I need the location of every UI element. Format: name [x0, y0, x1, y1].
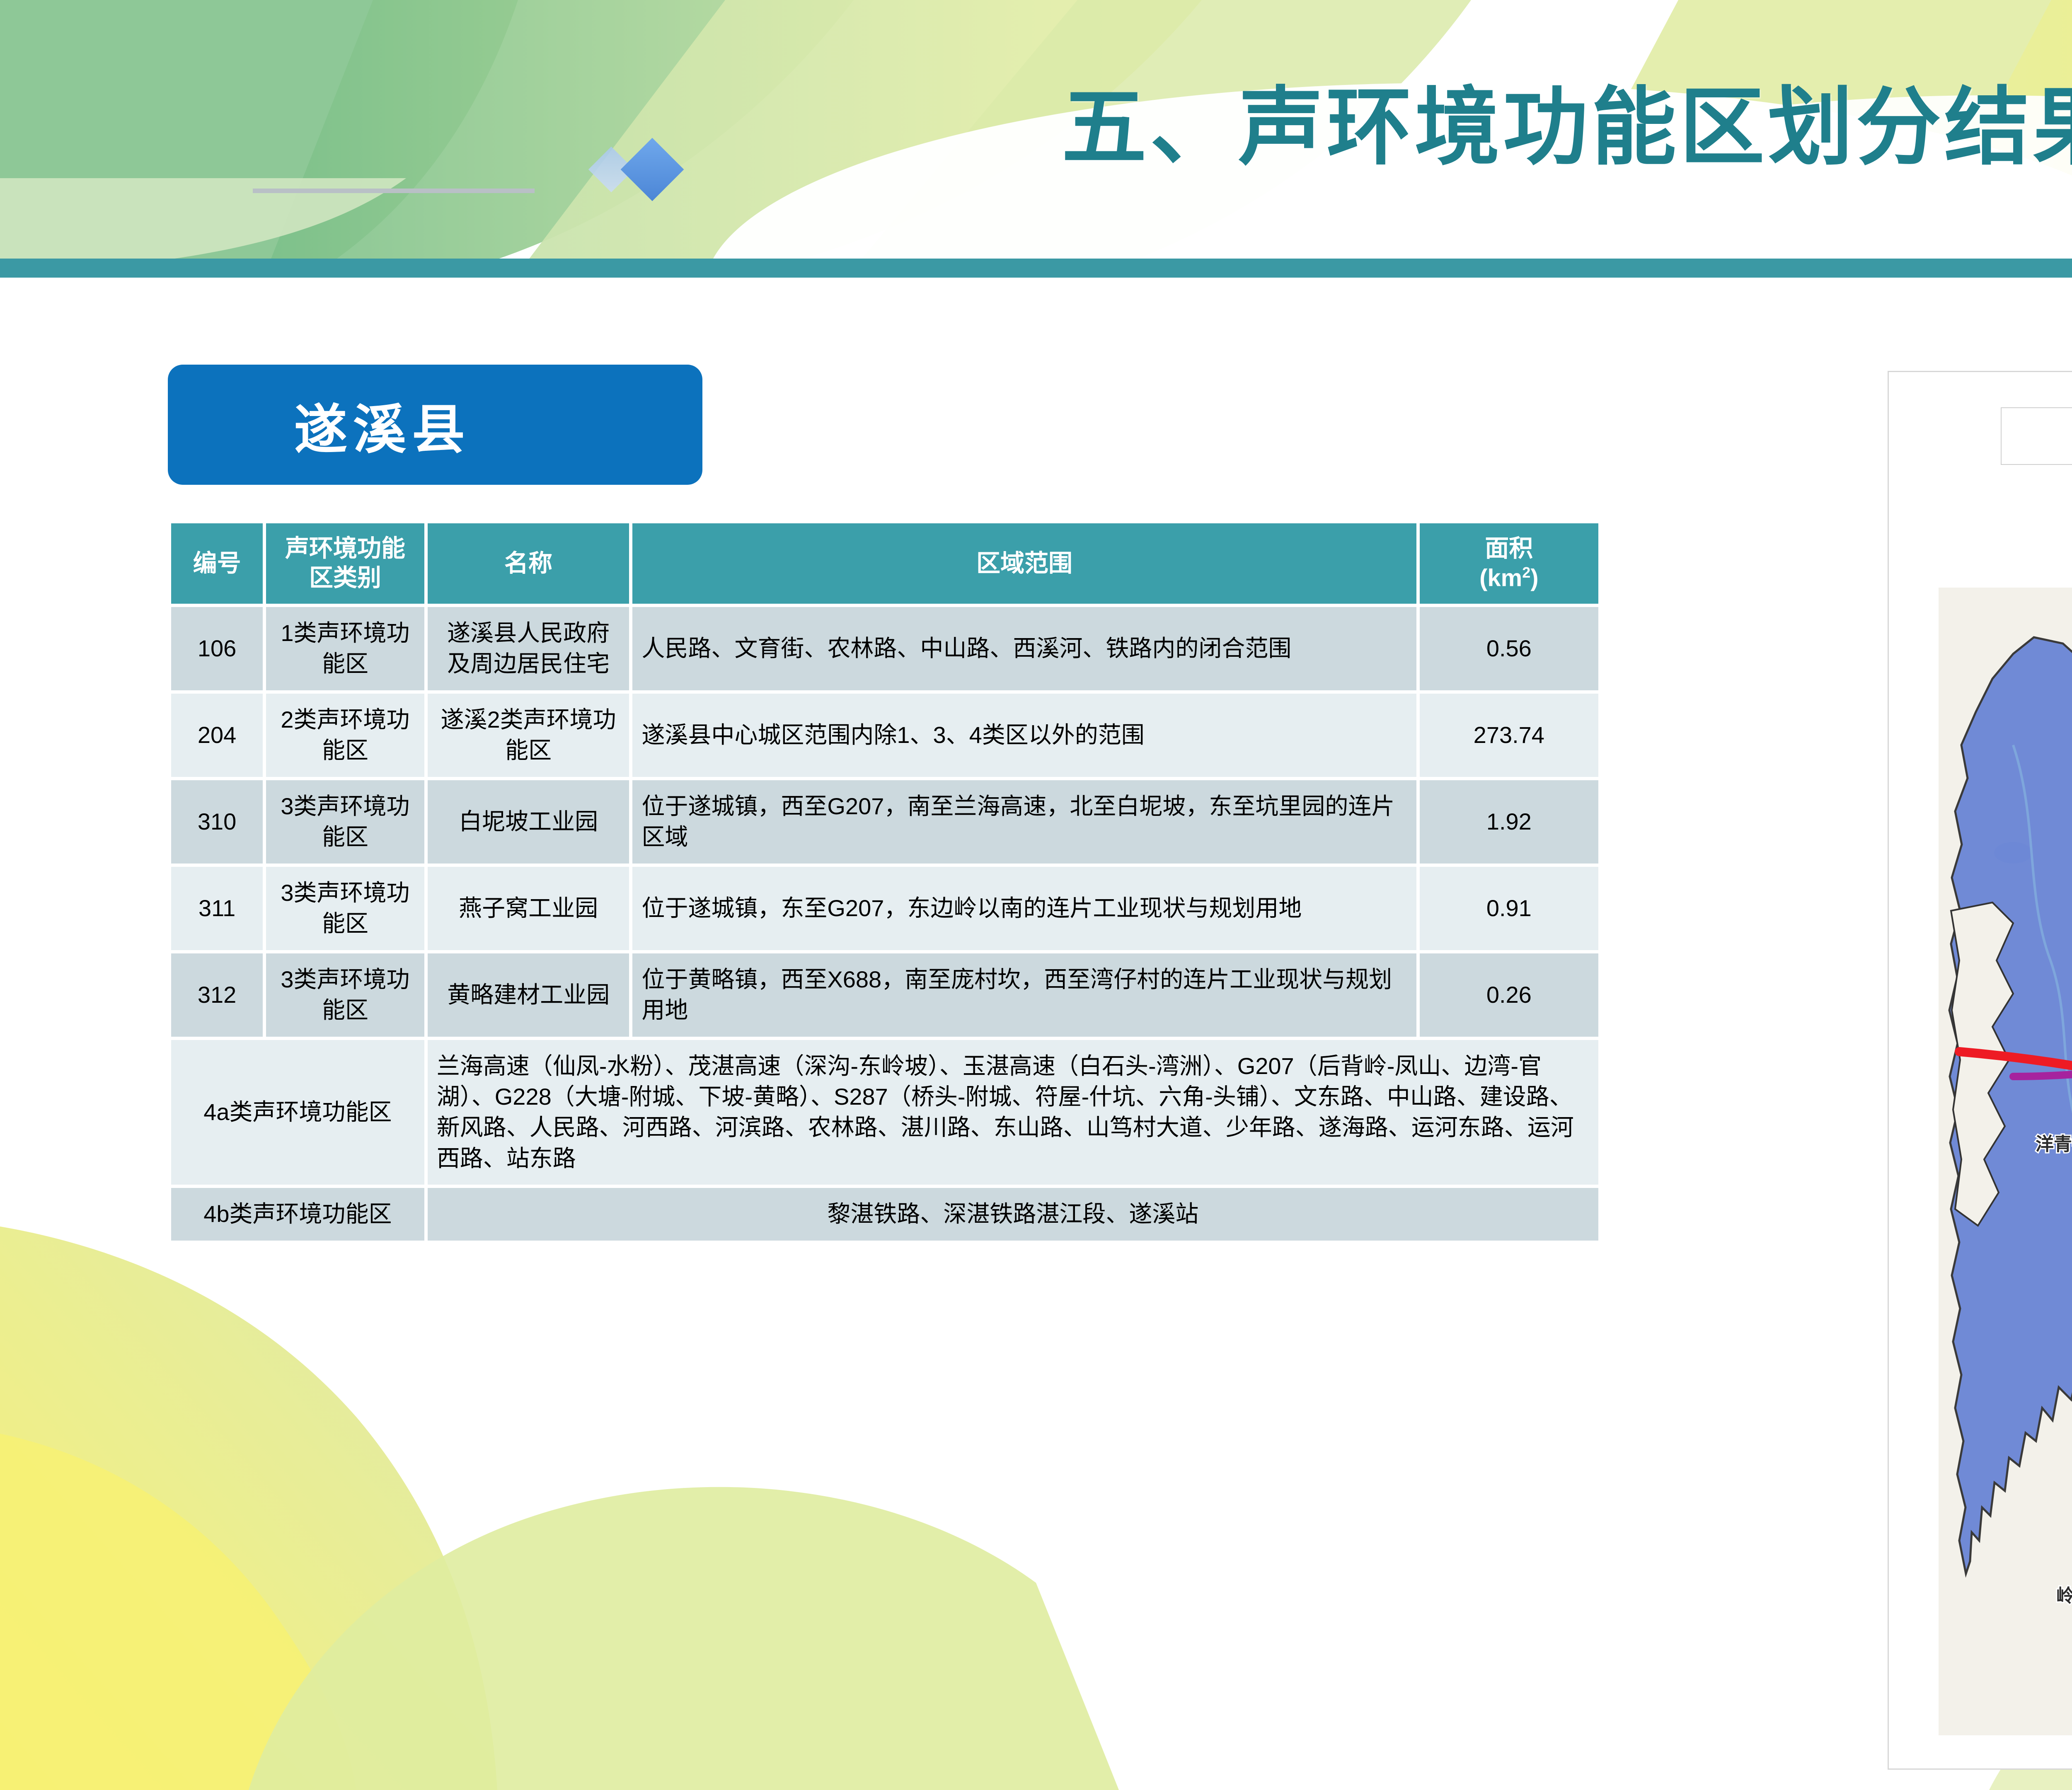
cell-range: 人民路、文育街、农林路、中山路、西溪河、铁路内的闭合范围: [632, 607, 1416, 690]
county-badge-label: 遂溪县: [294, 387, 471, 463]
col-header-area: 面积 (km2): [1420, 523, 1598, 604]
col-header-number: 编号: [171, 523, 263, 604]
map-canvas[interactable]: 106 204 311 310 312 遂城镇 黄略镇 洋青镇 岭北镇: [1889, 372, 2072, 1768]
cell-zone-type-4b: 4b类声环境功能区: [171, 1188, 424, 1240]
cell-area: 0.91: [1420, 867, 1598, 950]
area-line3: ): [1530, 564, 1538, 591]
table-row: 311 3类声环境功能区 燕子窝工业园 位于遂城镇，东至G207，东边岭以南的连…: [171, 867, 1598, 950]
page-title: 五、声环境功能区划分结果: [0, 83, 2072, 172]
map-town-label-lingbei: 岭北镇: [2056, 1585, 2072, 1606]
table-row: 106 1类声环境功能区 遂溪县人民政府及周边居民住宅 人民路、文育街、农林路、…: [171, 607, 1598, 690]
cell-number: 311: [171, 867, 263, 950]
cell-range: 遂溪县中心城区范围内除1、3、4类区以外的范围: [632, 694, 1416, 777]
county-badge: 遂溪县: [168, 365, 702, 485]
table-header-row: 编号 声环境功能 区类别 名称 区域范围 面积 (km2): [171, 523, 1598, 604]
cell-range-4a: 兰海高速（仙凤-水粉）、茂湛高速（深沟-东岭坡）、玉湛高速（白石头-湾洲）、G2…: [428, 1040, 1598, 1185]
cell-range: 位于遂城镇，西至G207，南至兰海高速，北至白坭坡，东至坑里园的连片区域: [632, 780, 1416, 864]
zone-type-line1: 声环境功能: [285, 535, 405, 562]
map-panel[interactable]: 106 204 311 310 312 遂城镇 黄略镇 洋青镇 岭北镇 遂溪县声…: [1888, 371, 2072, 1770]
cell-range: 位于遂城镇，东至G207，东边岭以南的连片工业现状与规划用地: [632, 867, 1416, 950]
cell-number: 310: [171, 780, 263, 864]
cell-name: 白坭坡工业园: [428, 780, 629, 864]
zone-type-line2: 区类别: [309, 564, 381, 591]
title-divider-bar: [0, 259, 2072, 278]
cell-zone-type: 1类声环境功能区: [266, 607, 424, 690]
col-header-range: 区域范围: [632, 523, 1416, 604]
table-row: 312 3类声环境功能区 黄略建材工业园 位于黄略镇，西至X688，南至庞村坎，…: [171, 953, 1598, 1037]
slide-title-band: 五、声环境功能区划分结果: [0, 0, 2072, 265]
cell-area: 273.74: [1420, 694, 1598, 777]
map-town-label-yangqing: 洋青镇: [2036, 1134, 2072, 1155]
map-title-box: 遂溪县声环境功能区划图: [2001, 407, 2072, 465]
table-row: 204 2类声环境功能区 遂溪2类声环境功能区 遂溪县中心城区范围内除1、3、4…: [171, 694, 1598, 777]
col-header-zone-type: 声环境功能 区类别: [266, 523, 424, 604]
area-unit-exponent: 2: [1522, 564, 1530, 581]
table-row-4a: 4a类声环境功能区 兰海高速（仙凤-水粉）、茂湛高速（深沟-东岭坡）、玉湛高速（…: [171, 1040, 1598, 1185]
col-header-name: 名称: [428, 523, 629, 604]
cell-zone-type: 3类声环境功能区: [266, 953, 424, 1037]
cell-range-4b: 黎湛铁路、深湛铁路湛江段、遂溪站: [428, 1188, 1598, 1240]
area-line1: 面积: [1485, 535, 1533, 562]
cell-range: 位于黄略镇，西至X688，南至庞村坎，西至湾仔村的连片工业现状与规划用地: [632, 953, 1416, 1037]
cell-zone-type-4a: 4a类声环境功能区: [171, 1040, 424, 1185]
cell-number: 106: [171, 607, 263, 690]
area-line2: (km: [1479, 564, 1522, 591]
cell-name: 遂溪2类声环境功能区: [428, 694, 629, 777]
cell-number: 312: [171, 953, 263, 1037]
cell-zone-type: 2类声环境功能区: [266, 694, 424, 777]
cell-area: 1.92: [1420, 780, 1598, 864]
cell-number: 204: [171, 694, 263, 777]
map-graphic: 106 204 311 310 312 遂城镇 黄略镇 洋青镇 岭北镇: [1889, 372, 2072, 1768]
cell-name: 遂溪县人民政府及周边居民住宅: [428, 607, 629, 690]
cell-area: 0.26: [1420, 953, 1598, 1037]
cell-name: 黄略建材工业园: [428, 953, 629, 1037]
cell-area: 0.56: [1420, 607, 1598, 690]
cell-zone-type: 3类声环境功能区: [266, 867, 424, 950]
cell-zone-type: 3类声环境功能区: [266, 780, 424, 864]
noise-zone-table: 编号 声环境功能 区类别 名称 区域范围 面积 (km2) 106 1类声环境功…: [168, 520, 1602, 1244]
table-row: 310 3类声环境功能区 白坭坡工业园 位于遂城镇，西至G207，南至兰海高速，…: [171, 780, 1598, 864]
cell-name: 燕子窝工业园: [428, 867, 629, 950]
title-rule-left: [253, 189, 535, 193]
table-row-4b: 4b类声环境功能区 黎湛铁路、深湛铁路湛江段、遂溪站: [171, 1188, 1598, 1240]
